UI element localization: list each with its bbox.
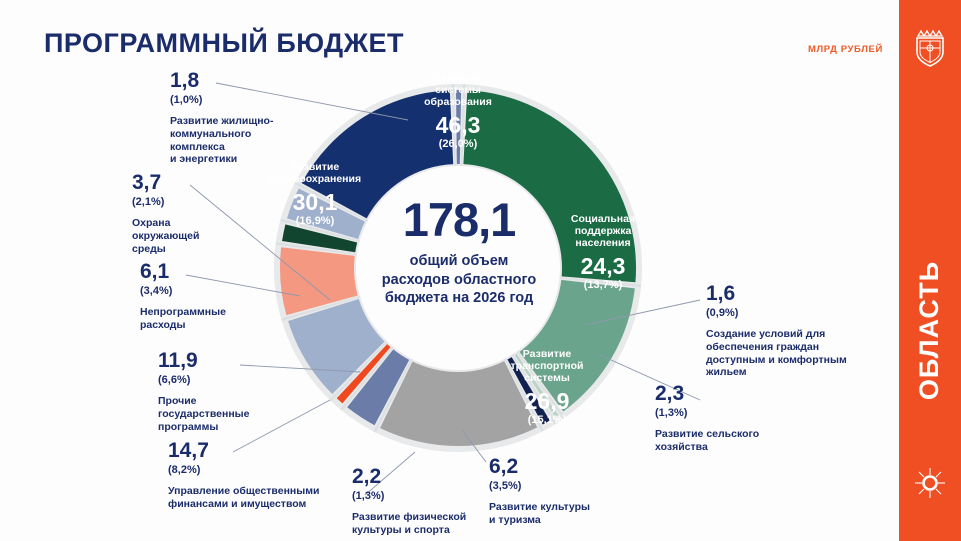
- callout-culture-tourism: 6,2 (3,5%) Развитие культуры и туризма: [489, 456, 639, 527]
- callout-sport-name: Развитие физической культуры и спорта: [352, 511, 512, 537]
- slice-label-education-value: 46,3: [398, 113, 518, 137]
- callout-affordable-housing: 1,6 (0,9%) Создание условий для обеспече…: [706, 283, 884, 379]
- callout-other-programs-percent: (6,6%): [158, 375, 298, 386]
- slice-label-education: Развитие системы образования 46,3 (26,0%…: [398, 72, 518, 150]
- callout-non-program: 6,1 (3,4%) Непрограммные расходы: [140, 261, 280, 332]
- callout-other-programs-name: Прочие государственные программы: [158, 395, 298, 433]
- slice-label-transport-percent: (15,1%): [487, 415, 607, 426]
- slice-label-social-percent: (13,7%): [548, 280, 658, 291]
- callout-culture-tourism-name: Развитие культуры и туризма: [489, 501, 639, 527]
- callout-environment-value: 3,7: [132, 172, 262, 193]
- brand-wordmark-text: ОБЛАСТЬ: [915, 260, 946, 399]
- callout-public-finance: 14,7 (8,2%) Управление общественными фин…: [168, 440, 378, 511]
- callout-public-finance-percent: (8,2%): [168, 465, 378, 476]
- callout-non-program-value: 6,1: [140, 261, 280, 282]
- callout-housing-utilities: 1,8 (1,0%) Развитие жилищно- коммунально…: [170, 70, 320, 166]
- callout-environment-percent: (2,1%): [132, 197, 262, 208]
- slice-label-social-value: 24,3: [548, 254, 658, 278]
- callout-affordable-housing-percent: (0,9%): [706, 308, 884, 319]
- callout-other-programs: 11,9 (6,6%) Прочие государственные прогр…: [158, 350, 298, 433]
- callout-affordable-housing-name: Создание условий для обеспечения граждан…: [706, 328, 884, 379]
- callout-other-programs-value: 11,9: [158, 350, 298, 371]
- callout-agriculture-percent: (1,3%): [655, 408, 825, 419]
- callout-agriculture-value: 2,3: [655, 383, 825, 404]
- callout-environment: 3,7 (2,1%) Охрана окружающей среды: [132, 172, 262, 255]
- callout-sport-value: 2,2: [352, 466, 512, 487]
- callout-agriculture: 2,3 (1,3%) Развитие сельского хозяйства: [655, 383, 825, 454]
- callout-non-program-name: Непрограммные расходы: [140, 306, 280, 332]
- callout-housing-utilities-value: 1,8: [170, 70, 320, 91]
- slice-label-transport-name: Развитие транспортной системы: [487, 348, 607, 384]
- slice-label-social: Социальная поддержка населения 24,3 (13,…: [548, 213, 658, 291]
- slice-label-education-name: Развитие системы образования: [398, 72, 518, 108]
- slice-label-education-percent: (26,0%): [398, 139, 518, 150]
- slice-label-health-value: 30,1: [253, 190, 377, 214]
- slice-label-health-percent: (16,9%): [253, 216, 377, 227]
- brand-banner: ОБЛАСТЬ: [899, 0, 961, 541]
- callout-public-finance-name: Управление общественными финансами и иму…: [168, 485, 378, 511]
- callout-housing-utilities-name: Развитие жилищно- коммунального комплекс…: [170, 115, 320, 166]
- infographic-canvas: ПРОГРАММНЫЙ БЮДЖЕТ МЛРД РУБЛЕЙ Развитие …: [0, 0, 961, 541]
- slice-label-social-name: Социальная поддержка населения: [548, 213, 658, 249]
- callout-affordable-housing-value: 1,6: [706, 283, 884, 304]
- callout-culture-tourism-percent: (3,5%): [489, 481, 639, 492]
- omsk-sunburst-icon: [915, 468, 945, 498]
- callout-sport-percent: (1,3%): [352, 491, 512, 502]
- callout-sport: 2,2 (1,3%) Развитие физической культуры …: [352, 466, 512, 537]
- omsk-coat-of-arms-icon: [913, 28, 947, 68]
- slice-label-transport-value: 26,9: [487, 389, 607, 413]
- slice-label-transport: Развитие транспортной системы 26,9 (15,1…: [487, 348, 607, 426]
- callout-environment-name: Охрана окружающей среды: [132, 217, 262, 255]
- callout-non-program-percent: (3,4%): [140, 286, 280, 297]
- callout-housing-utilities-percent: (1,0%): [170, 95, 320, 106]
- callout-public-finance-value: 14,7: [168, 440, 378, 461]
- slice-label-health: Развитие здравоохранения 30,1 (16,9%): [253, 161, 377, 227]
- callout-agriculture-name: Развитие сельского хозяйства: [655, 428, 825, 454]
- brand-wordmark: ОБЛАСТЬ: [910, 165, 950, 495]
- callout-culture-tourism-value: 6,2: [489, 456, 639, 477]
